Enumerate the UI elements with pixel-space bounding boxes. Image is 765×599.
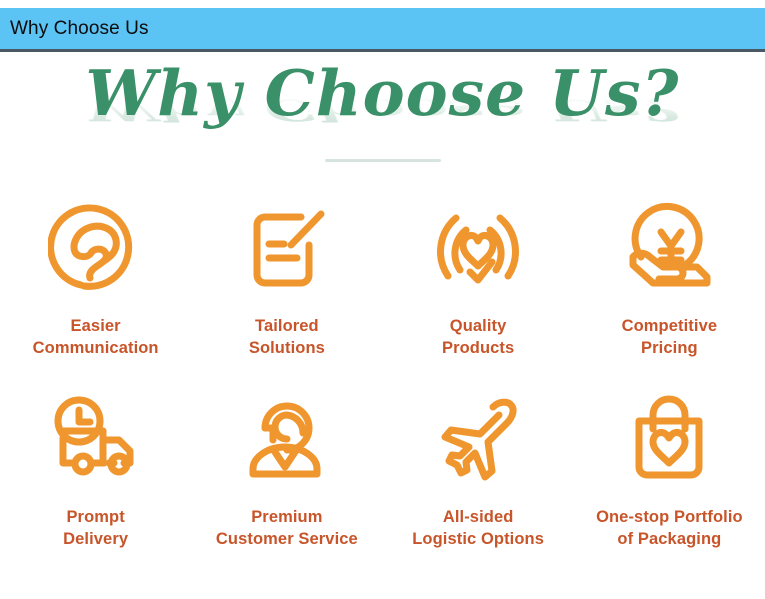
window-title-bar: Why Choose Us	[0, 8, 765, 52]
airplane-icon	[430, 386, 526, 492]
page-title: Why Choose Us?	[0, 57, 765, 129]
heart-signal-check-icon	[430, 195, 526, 301]
feature-item-premium-customer-service[interactable]: Premium Customer Service	[191, 386, 382, 550]
page-content: Why Choose Us? Why Choose Us? Easier Com…	[0, 55, 765, 599]
feature-item-one-stop-portfolio-of-packaging[interactable]: One-stop Portfolio of Packaging	[574, 386, 765, 550]
feature-item-tailored-solutions[interactable]: Tailored Solutions	[191, 195, 382, 359]
feature-item-all-sided-logistic-options[interactable]: All-sided Logistic Options	[383, 386, 574, 550]
feature-label: Quality Products	[442, 315, 514, 359]
hand-holding-yen-coin-icon	[619, 195, 719, 301]
ear-in-circle-icon	[48, 195, 144, 301]
feature-row: Prompt Delivery Premium Customer Service	[0, 386, 765, 550]
feature-item-easier-communication[interactable]: Easier Communication	[0, 195, 191, 359]
feature-label: Premium Customer Service	[216, 506, 358, 550]
document-pencil-icon	[239, 195, 335, 301]
feature-item-quality-products[interactable]: Quality Products	[383, 195, 574, 359]
feature-label: One-stop Portfolio of Packaging	[596, 506, 743, 550]
feature-item-competitive-pricing[interactable]: Competitive Pricing	[574, 195, 765, 359]
feature-label: Prompt Delivery	[63, 506, 128, 550]
delivery-truck-clock-icon	[46, 386, 146, 492]
window-title: Why Choose Us	[0, 18, 149, 40]
feature-label: Competitive Pricing	[622, 315, 718, 359]
title-divider	[325, 159, 441, 162]
feature-label: All-sided Logistic Options	[412, 506, 544, 550]
shopping-bag-heart-icon	[621, 386, 717, 492]
feature-item-prompt-delivery[interactable]: Prompt Delivery	[0, 386, 191, 550]
feature-grid: Easier Communication Tailored Solutions	[0, 195, 765, 550]
hero-section: Why Choose Us? Why Choose Us?	[0, 55, 765, 151]
headset-agent-icon	[237, 386, 337, 492]
feature-row: Easier Communication Tailored Solutions	[0, 195, 765, 359]
feature-label: Easier Communication	[33, 315, 159, 359]
feature-label: Tailored Solutions	[249, 315, 325, 359]
